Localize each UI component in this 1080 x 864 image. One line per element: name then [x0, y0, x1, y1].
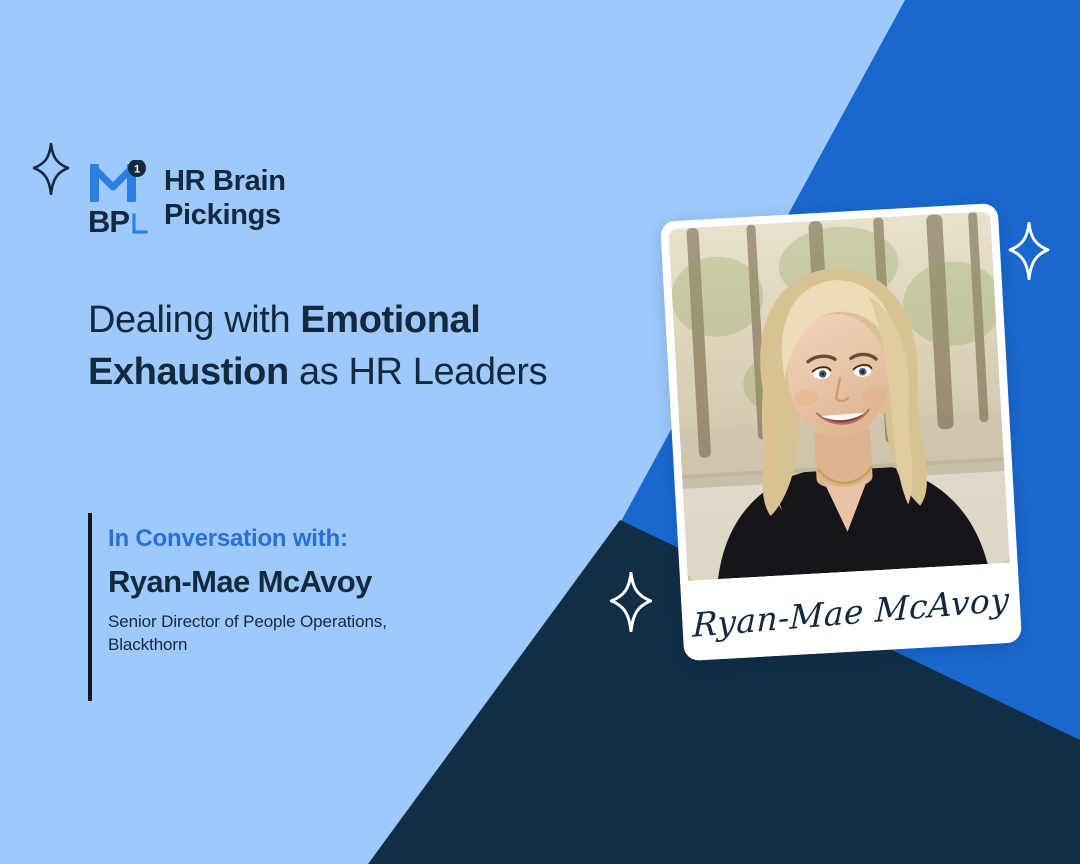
brand-logo: 1 BP HR Brain Pickings	[88, 160, 286, 236]
speaker-role: Senior Director of People Operations, Bl…	[108, 610, 528, 657]
sparkle-icon-bottom-middle	[607, 572, 655, 632]
logo-corner-bracket	[134, 215, 146, 232]
sparkle-icon-right	[1006, 222, 1052, 280]
logo-mark: 1 BP	[88, 160, 150, 236]
sparkle-icon-top-left	[30, 143, 72, 195]
speaker-name: Ryan-Mae McAvoy	[108, 564, 528, 600]
promo-card-canvas: 1 BP HR Brain Pickings Dealing with Emot…	[0, 0, 1080, 864]
speaker-kicker: In Conversation with:	[108, 525, 528, 553]
speaker-photo	[668, 211, 1009, 580]
logo-bp-letters: BP	[88, 204, 129, 236]
logo-badge-number: 1	[134, 164, 140, 176]
speaker-polaroid-card: Ryan-Mae McAvoy	[660, 203, 1022, 661]
speaker-block: In Conversation with: Ryan-Mae McAvoy Se…	[108, 525, 528, 657]
episode-title-part-1: Dealing with	[88, 299, 300, 341]
speaker-signature: Ryan-Mae McAvoy	[692, 579, 1010, 644]
speaker-accent-rule	[88, 513, 92, 701]
episode-title: Dealing with Emotional Exhaustion as HR …	[88, 294, 558, 398]
brand-name: HR Brain Pickings	[164, 164, 286, 232]
logo-h-v-stroke	[96, 170, 130, 187]
episode-title-part-2: as HR Leaders	[289, 351, 547, 393]
